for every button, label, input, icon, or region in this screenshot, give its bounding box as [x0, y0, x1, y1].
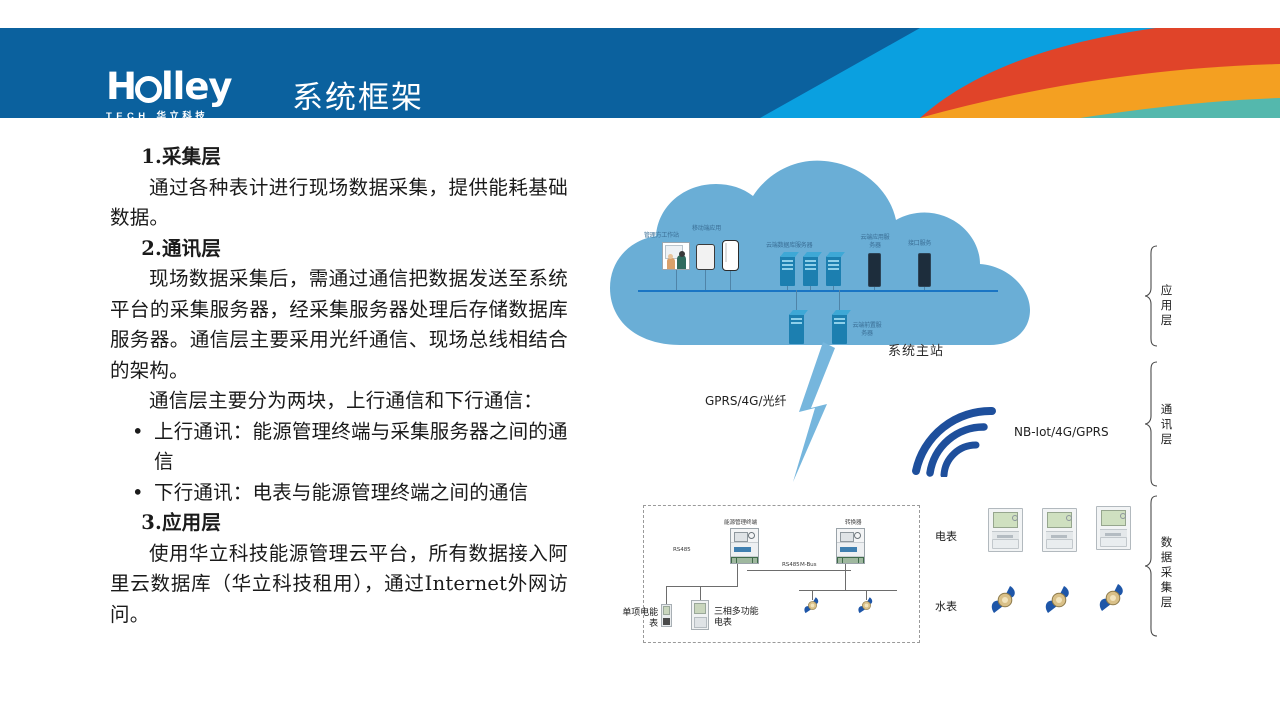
mobile-app-label: 移动端应用	[692, 225, 721, 233]
cloud-front-server-icon	[789, 314, 804, 344]
water-meter-icon	[857, 596, 876, 615]
smartphone-icon	[722, 240, 739, 271]
logo-o-ring-icon	[135, 76, 162, 103]
layer-braces	[1145, 190, 1203, 715]
management-workstation-icon	[662, 242, 690, 270]
node-connector	[810, 286, 811, 290]
section-1-body: 通过各种表计进行现场数据采集，提供能耗基础数据。	[110, 173, 568, 234]
rs485-left-label: RS485	[673, 547, 691, 553]
section-2-body: 现场数据采集后，需通过通信把数据发送至系统平台的采集服务器，经采集服务器处理后存…	[110, 264, 568, 386]
bullet-dot-icon: •	[132, 478, 144, 509]
cloud-app-server-label: 云端应用服务器	[858, 234, 892, 249]
interface-service-label: 接口服务	[908, 240, 931, 248]
bullet-item-uplink: • 上行通讯：能源管理终端与采集服务器之间的通信	[110, 417, 568, 478]
converter-drop-line	[845, 564, 846, 590]
bullet-item-downlink: • 下行通讯：电表与能源管理终端之间的通信	[110, 478, 568, 509]
energy-management-terminal-label: 能源管理终端	[724, 518, 757, 526]
water-meter-icon	[803, 596, 822, 615]
person-head-icon	[679, 251, 685, 257]
person-icon	[677, 255, 686, 269]
energy-management-terminal-icon	[730, 528, 759, 564]
left-text-column: 1.采集层 通过各种表计进行现场数据采集，提供能耗基础数据。 2.通讯层 现场数…	[110, 142, 568, 630]
section-2-body-2: 通信层主要分为两块，上行通信和下行通信：	[110, 386, 568, 417]
electric-meter-icon	[1096, 506, 1131, 550]
cloud-bus-line	[638, 290, 998, 292]
section-1-heading: 1.采集层	[110, 142, 568, 173]
bullet-dot-icon: •	[132, 417, 144, 448]
mbus-line	[799, 590, 897, 591]
logo-wordmark: Hlley	[106, 68, 266, 106]
phone-screen-icon	[725, 243, 727, 262]
person-head-icon	[668, 254, 673, 259]
system-architecture-diagram: 管理方工作站 移动端应用 云端数据库服务器 云端应用服务器	[600, 130, 1200, 700]
cloud-front-server-label: 云端前置服务器	[850, 322, 884, 337]
meter-bus-line	[666, 586, 738, 587]
converter-label: 转换器	[845, 518, 861, 526]
data-collection-layer-label: 数据采集层	[1160, 535, 1173, 610]
node-connector	[874, 287, 875, 290]
cloud-app-server-icon	[868, 253, 881, 287]
page-title: 系统框架	[292, 72, 424, 117]
rs485-right-label: RS485	[782, 562, 800, 568]
logo-sub-en: TECH	[106, 111, 149, 118]
field-device-group-box	[643, 505, 920, 643]
tablet-icon	[696, 244, 715, 270]
section-3-body: 使用华立科技能源管理云平台，所有数据接入阿里云数据库（华立科技租用），通过Int…	[110, 539, 568, 631]
mbus-label: M-Bus	[800, 562, 816, 568]
wireless-media-label: NB-Iot/4G/GPRS	[1014, 425, 1109, 439]
node-connector	[676, 270, 677, 290]
cloud-db-server-icon	[803, 256, 818, 286]
cloud-db-server-icon	[826, 256, 841, 286]
terminal-drop-line	[737, 564, 738, 586]
interface-service-icon	[918, 253, 931, 287]
wifi-signal-icon	[910, 405, 1000, 477]
communication-layer-label: 通讯层	[1160, 402, 1173, 447]
three-phase-meter-icon	[691, 600, 709, 630]
section-2-heading: 2.通讯层	[110, 234, 568, 265]
management-workstation-label: 管理方工作站	[644, 232, 679, 240]
header-swoosh-graphic	[620, 28, 1280, 118]
slide-canvas: Hlley TECH 华立科技 系统框架 1.采集层 通过各种表计进行现场数据采…	[0, 0, 1280, 720]
node-connector	[705, 270, 706, 290]
node-connector	[730, 271, 731, 290]
person-icon	[667, 258, 675, 269]
water-meter-icon	[1098, 583, 1128, 613]
slide-header: Hlley TECH 华立科技 系统框架	[0, 28, 1280, 118]
water-meter-icon	[1044, 585, 1074, 615]
logo-sub-cn: 华立科技	[157, 111, 209, 118]
water-meter-icon	[990, 585, 1020, 615]
single-phase-meter-label: 单项电能表	[620, 608, 658, 630]
node-connector	[787, 286, 788, 290]
main-station-label: 系统主站	[888, 340, 944, 359]
bullet-item-downlink-label: 下行通讯：电表与能源管理终端之间的通信	[154, 478, 528, 509]
holley-logo: Hlley TECH 华立科技	[106, 68, 266, 118]
electric-meter-row-label: 电表	[935, 528, 957, 544]
application-layer-label: 应用层	[1160, 283, 1173, 328]
node-connector	[924, 287, 925, 290]
rs485-bus-line	[747, 570, 851, 571]
converter-icon	[836, 528, 865, 564]
meter-drop-line	[700, 586, 701, 600]
meter-drop-line	[666, 586, 667, 604]
logo-subtitle: TECH 华立科技	[106, 108, 266, 118]
electric-meter-icon	[988, 508, 1023, 552]
lightning-bolt-icon	[785, 342, 851, 482]
cloud-db-server-icon	[780, 256, 795, 286]
uplink-media-label: GPRS/4G/光纤	[705, 392, 787, 409]
cloud-front-server-icon	[832, 314, 847, 344]
single-phase-meter-icon	[661, 604, 672, 627]
water-meter-row-label: 水表	[935, 598, 957, 614]
node-connector	[833, 286, 834, 290]
electric-meter-icon	[1042, 508, 1077, 552]
bullet-item-uplink-label: 上行通讯：能源管理终端与采集服务器之间的通信	[154, 417, 568, 478]
cloud-db-server-label: 云端数据库服务器	[766, 242, 812, 250]
section-3-heading: 3.应用层	[110, 508, 568, 539]
three-phase-meter-label: 三相多功能电表	[714, 607, 764, 629]
